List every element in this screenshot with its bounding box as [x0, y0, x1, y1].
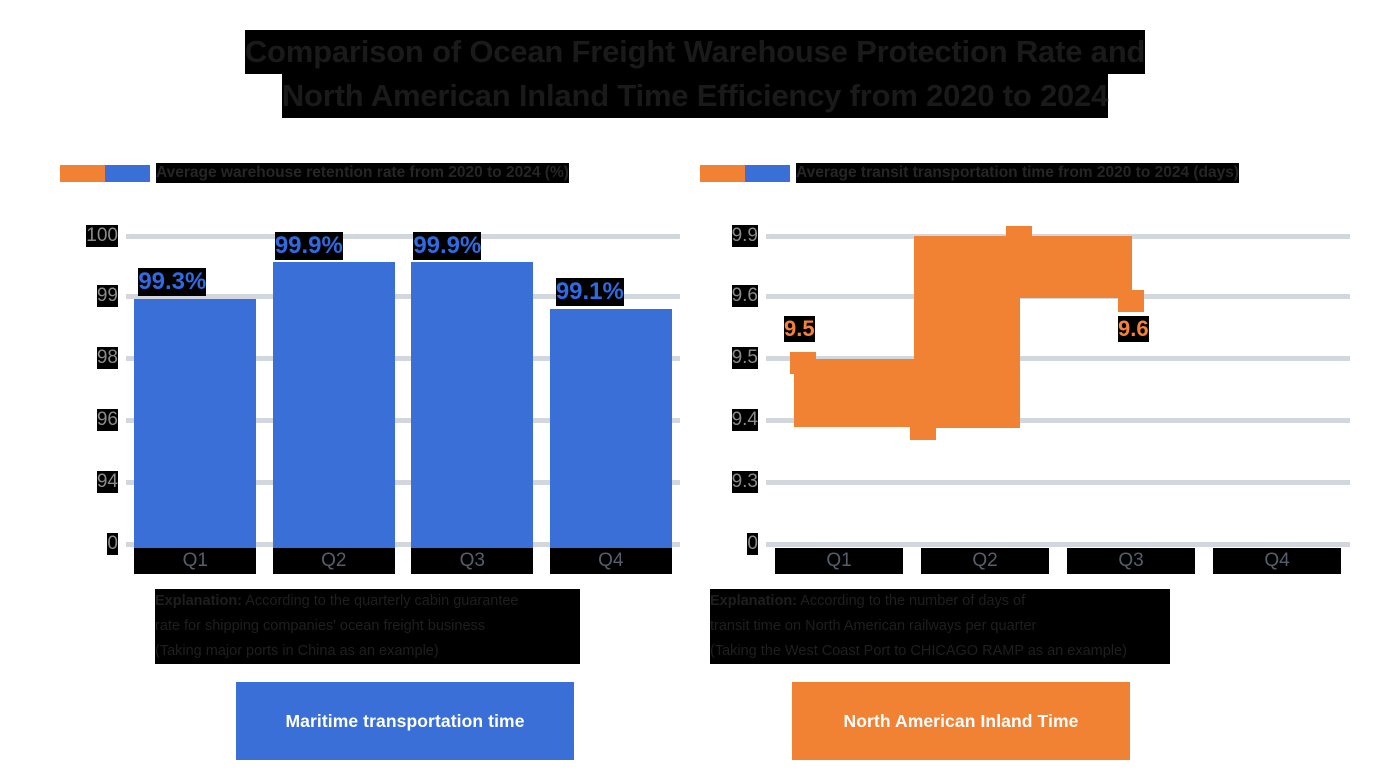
bar-q4[interactable] — [550, 309, 672, 548]
right-y-tick-9-5: 9.5 — [732, 347, 758, 369]
left-explanation: Explanation: According to the quarterly … — [155, 589, 580, 664]
left-bar-series: 99.3% 99.9% 99.9% 99.1% — [126, 228, 680, 548]
left-x-axis: Q1 Q2 Q3 Q4 — [126, 548, 680, 574]
bar-value-label-q2: 99.9% — [275, 232, 343, 260]
bar-value-label-q3: 99.9% — [413, 232, 481, 260]
left-y-tick-99: 99 — [97, 285, 118, 307]
right-x-tick-q1: Q1 — [775, 548, 903, 574]
orange-swatch-icon — [60, 165, 105, 182]
left-y-tick-0: 0 — [107, 533, 118, 555]
bar-value-label-q4: 99.1% — [556, 278, 624, 306]
left-chart-panel: Average warehouse retention rate from 20… — [60, 160, 680, 580]
right-y-tick-9-6: 9.6 — [732, 285, 758, 307]
blue-swatch-icon — [745, 165, 790, 182]
right-grid-area: 9.5 9.6 — [766, 228, 1350, 548]
data-point-q1[interactable] — [790, 352, 816, 374]
left-y-tick-98: 98 — [97, 347, 118, 369]
left-grid-area: 99.3% 99.9% 99.9% 99.1% — [126, 228, 680, 548]
left-y-tick-96: 96 — [97, 409, 118, 431]
line-segment-q3-q4[interactable] — [1020, 236, 1132, 298]
right-chart-legend: Average transit transportation time from… — [700, 160, 1350, 186]
right-explanation: Explanation: According to the number of … — [710, 589, 1170, 664]
right-y-tick-9-4: 9.4 — [732, 409, 758, 431]
north-american-inland-time-button[interactable]: North American Inland Time — [792, 682, 1130, 760]
bar-value-label-q1: 99.3% — [138, 268, 206, 296]
page-title-line-2: North American Inland Time Efficiency fr… — [282, 74, 1108, 118]
maritime-transportation-time-button[interactable]: Maritime transportation time — [236, 682, 574, 760]
right-y-tick-9-9: 9.9 — [732, 225, 758, 247]
left-x-tick-q4: Q4 — [550, 548, 672, 574]
right-x-tick-q2: Q2 — [921, 548, 1049, 574]
right-x-axis: Q1 Q2 Q3 Q4 — [766, 548, 1350, 574]
bar-slot-q4[interactable]: 99.1% — [550, 228, 672, 548]
right-explanation-bold: Explanation: — [710, 593, 797, 609]
blue-swatch-icon — [105, 165, 150, 182]
bar-q3[interactable] — [411, 262, 533, 548]
legend-swatches — [700, 165, 790, 182]
right-y-tick-9-3: 9.3 — [732, 471, 758, 493]
right-line-series: 9.5 9.6 — [766, 228, 1350, 548]
point-value-label-q1: 9.5 — [784, 316, 815, 342]
point-value-label-q4: 9.6 — [1118, 316, 1149, 342]
left-y-tick-100: 100 — [86, 225, 118, 247]
left-legend-label: Average warehouse retention rate from 20… — [156, 163, 569, 183]
right-chart-panel: Average transit transportation time from… — [700, 160, 1350, 580]
right-y-axis: 9.9 9.6 9.5 9.4 9.3 0 — [700, 228, 758, 548]
left-x-tick-q1: Q1 — [134, 548, 256, 574]
chart-page: Comparison of Ocean Freight Warehouse Pr… — [0, 0, 1390, 781]
bar-q1[interactable] — [134, 299, 256, 548]
page-title: Comparison of Ocean Freight Warehouse Pr… — [0, 30, 1390, 118]
left-x-tick-q3: Q3 — [411, 548, 533, 574]
left-y-tick-94: 94 — [97, 471, 118, 493]
right-y-tick-0: 0 — [747, 533, 758, 555]
legend-swatches — [60, 165, 150, 182]
data-point-q4[interactable] — [1118, 290, 1144, 312]
left-chart-legend: Average warehouse retention rate from 20… — [60, 160, 680, 186]
right-x-tick-q4: Q4 — [1213, 548, 1341, 574]
left-x-tick-q2: Q2 — [273, 548, 395, 574]
page-title-line-1: Comparison of Ocean Freight Warehouse Pr… — [245, 30, 1145, 74]
bar-slot-q2[interactable]: 99.9% — [273, 228, 395, 548]
right-x-tick-q3: Q3 — [1067, 548, 1195, 574]
left-y-axis: 100 99 98 96 94 0 — [60, 228, 118, 548]
bar-slot-q3[interactable]: 99.9% — [411, 228, 533, 548]
bar-q2[interactable] — [273, 262, 395, 548]
right-plot-area: 9.9 9.6 9.5 9.4 9.3 0 — [700, 228, 1350, 548]
orange-swatch-icon — [700, 165, 745, 182]
bar-slot-q1[interactable]: 99.3% — [134, 228, 256, 548]
left-explanation-bold: Explanation: — [155, 593, 242, 609]
line-segment-q2-q3[interactable] — [914, 236, 1020, 428]
right-legend-label: Average transit transportation time from… — [796, 163, 1239, 183]
left-plot-area: 100 99 98 96 94 0 99.3% — [60, 228, 680, 548]
